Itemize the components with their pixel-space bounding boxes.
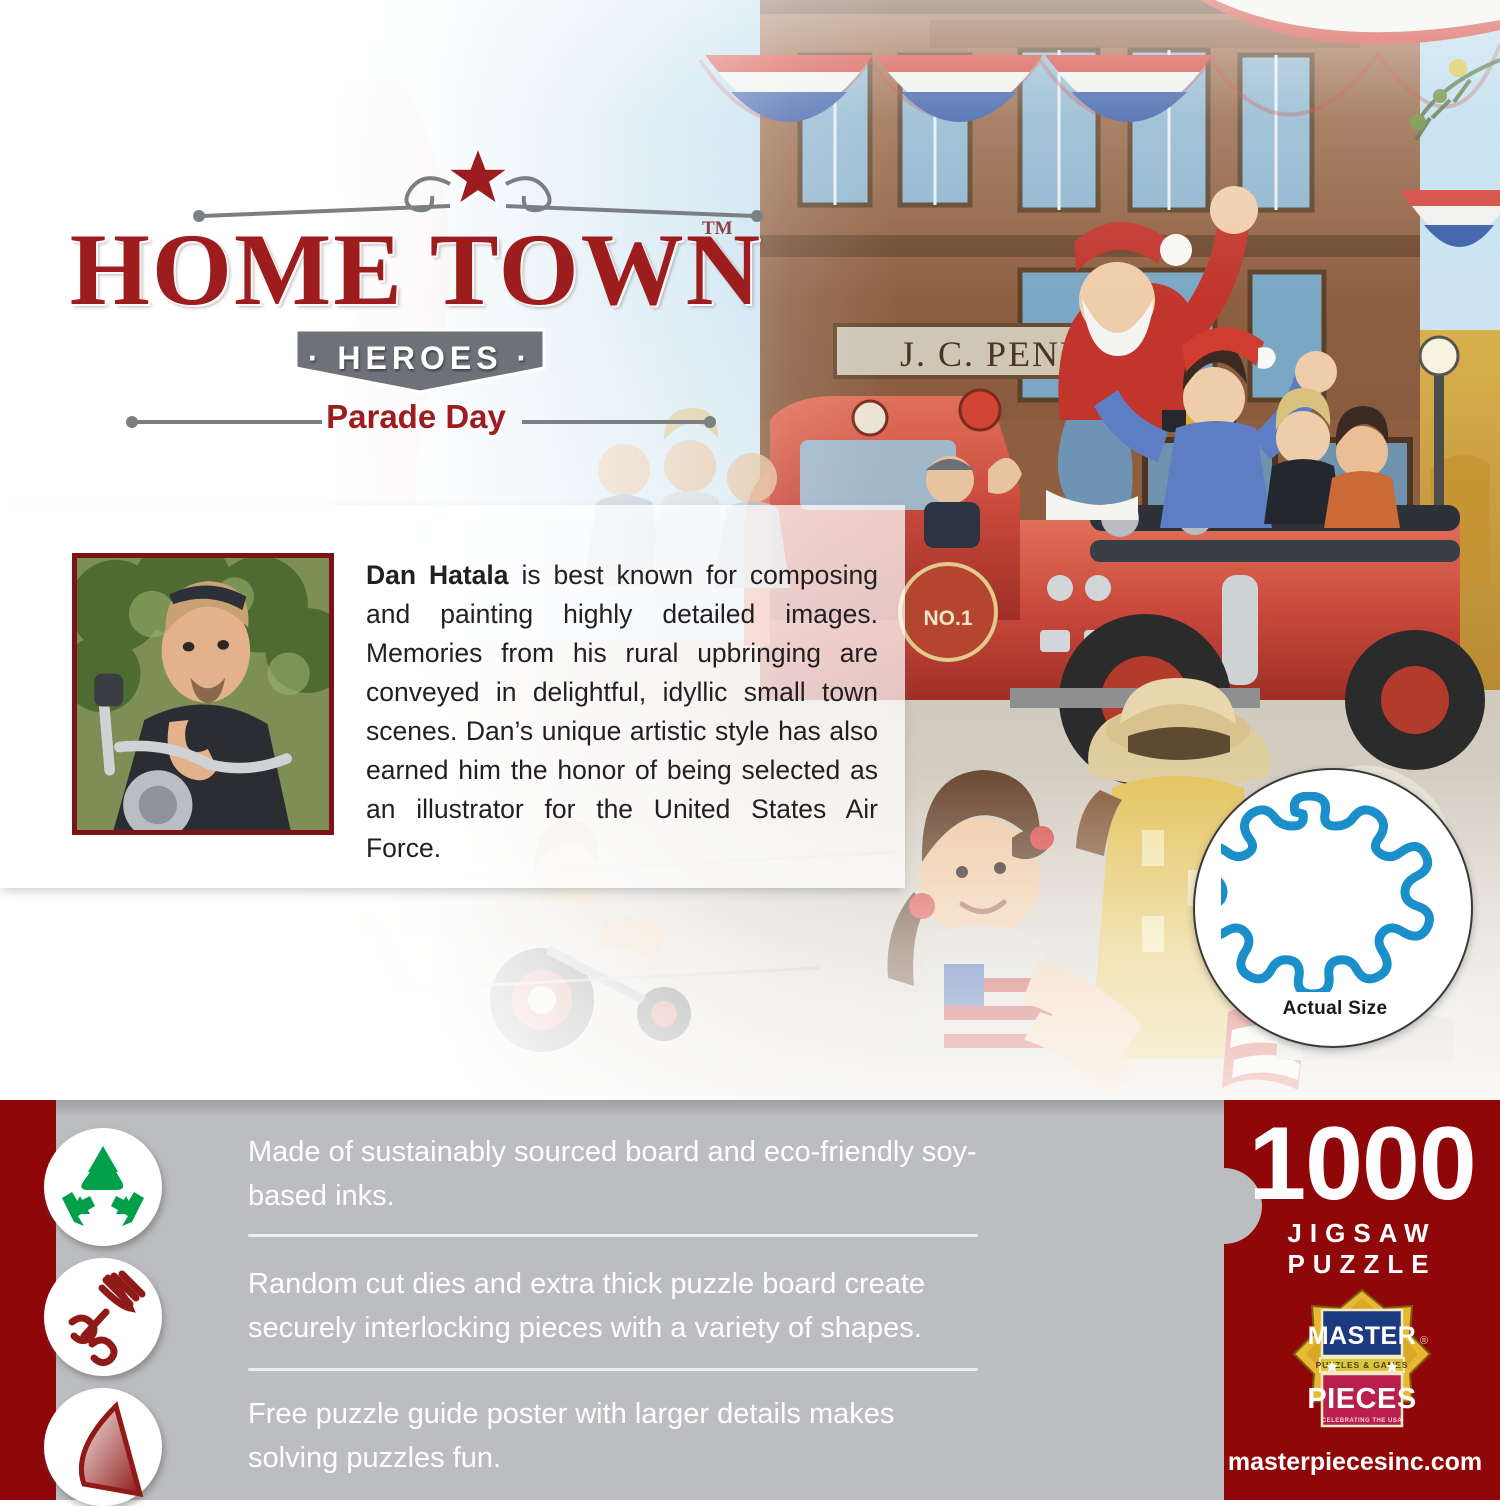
artist-bio-text: Dan Hatala is best known for composing a… — [366, 556, 878, 868]
piece-count: 1000 — [1224, 1112, 1500, 1216]
puzzle-artwork: J. C. PENNEY — [0, 0, 1500, 1100]
artist-name: Dan Hatala — [366, 560, 509, 590]
trademark-symbol: TM — [702, 218, 733, 240]
feature-divider-1 — [248, 1234, 978, 1237]
artist-portrait-image — [77, 558, 329, 830]
actual-size-label: Actual Size — [1195, 998, 1475, 1020]
subtitle: Parade Day — [66, 398, 766, 436]
series-label: · HEROES · — [294, 340, 546, 377]
logo-bottom-word: PIECES — [1307, 1383, 1416, 1415]
feature-text-2: Random cut dies and extra thick puzzle b… — [248, 1262, 988, 1350]
brand-logo: HOME TOWN TM · HEROES · Parade Day — [66, 140, 766, 450]
puzzle-type-label: JIGSAW PUZZLE — [1224, 1218, 1500, 1280]
actual-size-badge: Actual Size — [1193, 768, 1473, 1048]
recycle-icon — [44, 1128, 162, 1246]
poster-corner-icon — [44, 1388, 162, 1506]
feature-text-1: Made of sustainably sourced board and ec… — [248, 1130, 988, 1218]
registered-symbol: ® — [1420, 1335, 1428, 1347]
svg-text:NO.1: NO.1 — [923, 607, 972, 630]
brand-title: HOME TOWN — [66, 218, 766, 322]
puzzle-piece-icon — [1221, 792, 1449, 992]
artist-bio-body: is best known for composing and painting… — [366, 560, 878, 863]
logo-top-word: MASTER — [1308, 1322, 1417, 1350]
feature-text-3: Free puzzle guide poster with larger det… — [248, 1392, 988, 1480]
die-cut-fork-icon — [44, 1258, 162, 1376]
website-url: masterpiecesinc.com — [1210, 1448, 1500, 1477]
masterpieces-logo: MASTER PUZZLES & GAMES PIECES CELEBRATIN… — [1292, 1288, 1432, 1450]
artist-photo — [72, 553, 334, 835]
logo-tagline: CELEBRATING THE USA — [1322, 1418, 1403, 1424]
feature-divider-2 — [248, 1368, 978, 1371]
